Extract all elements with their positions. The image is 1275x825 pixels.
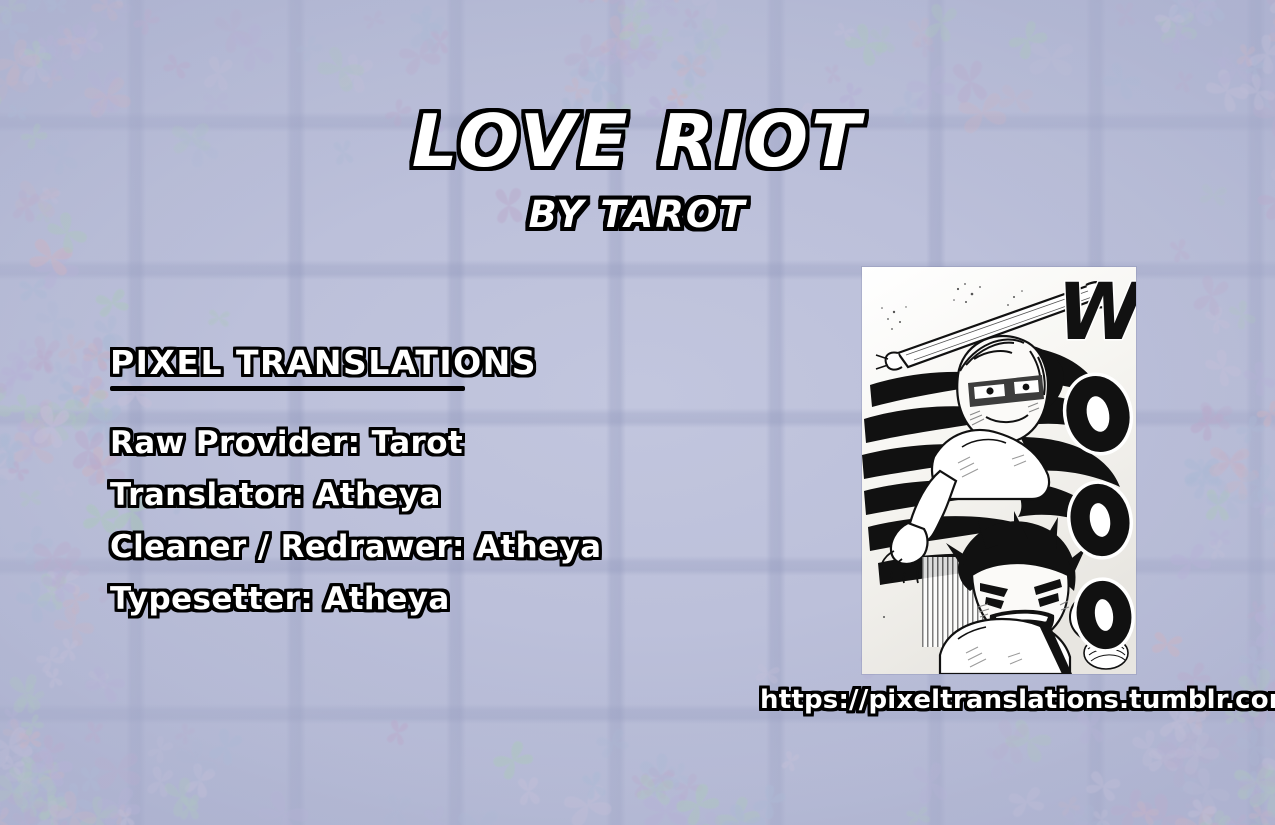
butterfly-icon	[1230, 760, 1275, 805]
butterfly-icon	[0, 33, 47, 93]
butterfly-icon	[838, 18, 893, 73]
butterfly-icon	[629, 771, 654, 800]
butterfly-icon	[160, 51, 194, 82]
page-subtitle: BY TAROT	[0, 195, 1275, 235]
butterfly-icon	[33, 760, 68, 796]
butterfly-icon	[1217, 449, 1246, 472]
butterfly-icon	[948, 57, 991, 107]
butterfly-icon	[292, 32, 327, 66]
butterfly-icon	[516, 775, 543, 808]
butterfly-icon	[0, 357, 35, 390]
butterfly-icon	[1224, 811, 1251, 825]
butterfly-icon	[566, 52, 600, 80]
butterfly-icon	[1165, 538, 1216, 585]
butterfly-icon	[170, 734, 224, 791]
butterfly-icon	[1256, 737, 1275, 798]
butterfly-icon	[987, 715, 1033, 768]
butterfly-icon	[648, 771, 677, 802]
butterfly-icon	[8, 423, 54, 468]
butterfly-icon	[1261, 0, 1275, 18]
butterfly-icon	[1218, 816, 1256, 825]
butterfly-icon	[67, 371, 113, 413]
butterfly-icon	[866, 22, 899, 59]
butterfly-icon	[0, 739, 3, 767]
butterfly-icon	[588, 0, 611, 4]
butterfly-icon	[1149, 629, 1185, 660]
butterfly-icon	[592, 33, 647, 83]
butterfly-icon	[87, 0, 127, 25]
butterfly-icon	[1151, 728, 1199, 774]
butterfly-icon	[0, 722, 38, 773]
butterfly-icon	[204, 723, 246, 769]
butterfly-icon	[1026, 39, 1076, 80]
butterfly-icon	[84, 668, 111, 691]
butterfly-icon	[45, 0, 67, 15]
butterfly-icon	[13, 680, 48, 717]
butterfly-icon	[28, 730, 70, 774]
butterfly-icon	[79, 765, 103, 794]
butterfly-icon	[179, 793, 202, 821]
butterfly-icon	[34, 348, 56, 374]
butterfly-icon	[5, 759, 42, 802]
butterfly-icon	[129, 5, 163, 39]
butterfly-icon	[1173, 0, 1224, 29]
butterfly-icon	[1253, 397, 1275, 431]
butterfly-icon	[428, 28, 450, 55]
butterfly-icon	[2, 335, 39, 373]
butterfly-icon	[1004, 783, 1047, 821]
butterfly-icon	[1168, 726, 1225, 780]
butterfly-icon	[5, 389, 45, 427]
butterfly-icon	[1127, 725, 1169, 771]
butterfly-icon	[1202, 487, 1231, 523]
butterfly-icon	[23, 332, 63, 378]
butterfly-icon	[881, 817, 932, 825]
butterfly-icon	[1170, 800, 1230, 825]
butterfly-icon	[3, 705, 23, 729]
butterfly-icon	[1133, 787, 1195, 825]
butterfly-icon	[908, 758, 952, 808]
butterfly-icon	[576, 0, 595, 5]
butterfly-icon	[1, 756, 46, 801]
butterfly-icon	[1091, 807, 1112, 825]
butterfly-icon	[33, 820, 79, 825]
butterfly-icon	[48, 601, 100, 652]
butterfly-icon	[999, 714, 1057, 769]
butterfly-icon	[1267, 20, 1275, 68]
butterfly-icon	[1155, 741, 1204, 793]
butterfly-icon	[1257, 805, 1275, 825]
butterfly-icon	[1168, 236, 1193, 264]
butterfly-icon	[1236, 768, 1268, 802]
butterfly-icon	[394, 33, 446, 81]
butterfly-icon	[1261, 399, 1275, 434]
credit-line-translator: Translator: Atheya	[110, 469, 670, 521]
butterfly-icon	[648, 25, 677, 53]
credits-heading-wrap: PIXEL TRANSLATIONS	[110, 344, 670, 382]
butterfly-icon	[921, 0, 961, 46]
butterfly-icon	[0, 449, 13, 498]
butterfly-icon	[82, 720, 105, 746]
butterfly-icon	[633, 770, 677, 808]
butterfly-icon	[1257, 479, 1275, 541]
butterfly-icon	[558, 780, 617, 825]
butterfly-icon	[25, 233, 78, 280]
butterfly-icon	[44, 666, 66, 690]
butterfly-icon	[405, 6, 450, 57]
butterfly-icon	[1244, 29, 1275, 79]
credit-line-raw-provider: Raw Provider: Tarot	[110, 417, 670, 469]
butterfly-icon	[709, 790, 767, 825]
butterfly-icon	[1232, 412, 1268, 448]
butterfly-icon	[0, 432, 28, 474]
butterfly-icon	[1197, 730, 1242, 767]
butterfly-icon	[80, 661, 130, 708]
butterfly-icon	[640, 790, 691, 825]
butterfly-icon	[10, 428, 58, 467]
butterfly-icon	[51, 779, 96, 825]
butterfly-icon	[18, 712, 47, 740]
butterfly-icon	[181, 759, 220, 802]
butterfly-icon	[1234, 42, 1257, 69]
butterfly-icon	[0, 443, 22, 497]
butterfly-icon	[252, 783, 316, 825]
butterfly-icon	[905, 15, 937, 52]
butterfly-icon	[1182, 456, 1222, 488]
butterfly-icon	[18, 789, 47, 820]
butterfly-icon	[7, 35, 60, 81]
butterfly-icon	[1252, 58, 1275, 100]
butterfly-icon	[29, 398, 81, 446]
butterfly-icon	[29, 244, 84, 295]
butterfly-icon	[17, 277, 50, 304]
butterfly-icon	[1200, 474, 1254, 525]
butterfly-icon	[13, 751, 63, 795]
butterfly-icon	[674, 13, 716, 54]
butterfly-icon	[206, 307, 232, 328]
butterfly-icon	[1159, 20, 1196, 58]
butterfly-icon	[1206, 444, 1252, 482]
butterfly-icon	[14, 42, 54, 89]
butterfly-icon	[45, 814, 70, 825]
butterfly-icon	[1166, 0, 1192, 21]
butterfly-icon	[832, 20, 858, 44]
butterfly-icon	[1267, 0, 1275, 4]
butterfly-icon	[1206, 538, 1226, 562]
butterfly-icon	[25, 741, 78, 791]
butterfly-icon	[1253, 482, 1275, 535]
butterfly-icon	[0, 364, 13, 411]
butterfly-icon	[1247, 814, 1273, 825]
butterfly-icon	[361, 8, 388, 32]
butterfly-icon	[1176, 761, 1236, 822]
butterfly-icon	[3, 816, 43, 825]
butterfly-icon	[27, 403, 56, 429]
butterfly-icon	[1178, 772, 1199, 796]
butterfly-icon	[37, 541, 94, 594]
butterfly-icon	[0, 796, 11, 825]
butterfly-icon	[90, 749, 144, 794]
butterfly-icon	[160, 772, 204, 820]
butterfly-icon	[32, 795, 76, 825]
butterfly-icon	[1188, 270, 1233, 320]
butterfly-icon	[50, 22, 90, 57]
butterfly-icon	[30, 812, 85, 825]
butterfly-icon	[1184, 795, 1220, 825]
butterfly-icon	[1195, 398, 1236, 433]
butterfly-icon	[579, 768, 609, 802]
butterfly-icon	[7, 519, 58, 569]
butterfly-icon	[5, 759, 63, 816]
butterfly-icon	[1201, 344, 1247, 391]
credits-block: PIXEL TRANSLATIONS Raw Provider: Tarot T…	[110, 344, 670, 625]
butterfly-icon	[614, 11, 657, 55]
butterfly-icon	[310, 41, 370, 99]
butterfly-icon	[50, 473, 79, 499]
butterfly-icon	[37, 563, 80, 608]
butterfly-icon	[689, 14, 734, 64]
butterfly-icon	[669, 769, 706, 804]
butterfly-icon	[44, 39, 80, 83]
butterfly-icon	[37, 748, 60, 774]
butterfly-icon	[1056, 794, 1083, 819]
butterfly-icon	[1097, 58, 1147, 106]
butterfly-icon	[62, 352, 110, 404]
butterfly-icon	[172, 720, 198, 747]
butterfly-icon	[1264, 12, 1275, 53]
butterfly-icon	[614, 0, 653, 29]
butterfly-icon	[1180, 459, 1227, 504]
butterfly-icon	[1246, 772, 1275, 797]
butterfly-icon	[558, 28, 611, 83]
butterfly-icon	[1059, 799, 1097, 825]
butterfly-icon	[28, 401, 73, 452]
svg-text:W: W	[1057, 268, 1136, 358]
butterfly-icon	[96, 0, 131, 1]
butterfly-icon	[0, 815, 10, 825]
butterfly-icon	[32, 642, 68, 676]
butterfly-icon	[1271, 528, 1275, 559]
page-title: LOVE RIOT	[0, 103, 1275, 179]
butterfly-icon	[54, 25, 91, 60]
butterfly-icon	[0, 714, 36, 750]
butterfly-icon	[30, 295, 82, 347]
butterfly-icon	[1175, 720, 1207, 759]
butterfly-icon	[904, 804, 933, 825]
butterfly-icon	[610, 20, 668, 76]
butterfly-icon	[1105, 784, 1158, 825]
butterfly-icon	[1239, 357, 1275, 401]
butterfly-icon	[11, 395, 70, 453]
butterfly-icon	[1243, 55, 1268, 81]
butterfly-icon	[1271, 731, 1275, 765]
butterfly-icon	[487, 735, 538, 785]
butterfly-icon	[682, 28, 725, 77]
butterfly-icon	[716, 798, 771, 825]
butterfly-icon	[46, 398, 79, 425]
butterfly-icon	[1209, 44, 1239, 74]
butterfly-icon	[1172, 0, 1219, 29]
butterfly-icon	[1186, 456, 1219, 491]
butterfly-icon	[605, 0, 641, 16]
butterfly-icon	[645, 764, 678, 792]
butterfly-icon	[1198, 818, 1244, 825]
butterfly-icon	[617, 31, 661, 69]
butterfly-icon	[1266, 617, 1275, 650]
butterfly-icon	[1173, 70, 1195, 96]
butterfly-icon	[1232, 756, 1275, 808]
credits-heading: PIXEL TRANSLATIONS	[110, 344, 537, 382]
butterfly-icon	[406, 1, 448, 46]
butterfly-icon	[1113, 1, 1137, 30]
butterfly-icon	[107, 801, 134, 825]
butterfly-icon	[980, 739, 1019, 784]
butterfly-icon	[685, 0, 742, 25]
butterfly-icon	[691, 820, 728, 825]
butterfly-icon	[143, 763, 176, 800]
butterfly-icon	[1003, 16, 1053, 65]
butterfly-icon	[46, 359, 74, 390]
butterfly-icon	[420, 803, 452, 825]
credits-page: LOVE RIOT BY TAROT PIXEL TRANSLATIONS Ra…	[0, 0, 1275, 825]
butterfly-icon	[1268, 739, 1275, 797]
butterfly-icon	[20, 0, 61, 15]
butterfly-icon	[1251, 609, 1275, 650]
butterfly-icon	[1246, 801, 1275, 825]
butterfly-icon	[1245, 598, 1269, 624]
butterfly-icon	[779, 749, 802, 774]
butterfly-icon	[1196, 811, 1239, 825]
butterfly-icon	[36, 33, 61, 62]
butterfly-icon	[144, 733, 177, 768]
butterfly-icon	[823, 62, 843, 85]
butterfly-icon	[0, 428, 19, 471]
butterfly-icon	[644, 0, 680, 20]
butterfly-icon	[1152, 725, 1210, 777]
butterfly-icon	[1198, 807, 1234, 825]
butterfly-icon	[335, 49, 378, 97]
butterfly-icon	[1243, 761, 1275, 824]
butterfly-icon	[26, 781, 72, 825]
butterfly-icon	[1151, 1, 1189, 37]
butterfly-icon	[670, 778, 725, 825]
butterfly-icon	[1218, 457, 1263, 505]
butterfly-icon	[68, 18, 105, 60]
butterfly-icon	[0, 771, 36, 814]
butterfly-icon	[1174, 4, 1192, 26]
butterfly-icon	[634, 748, 685, 803]
butterfly-icon	[21, 37, 57, 73]
credit-line-cleaner-redrawer: Cleaner / Redrawer: Atheya	[110, 521, 670, 573]
butterfly-icon	[18, 488, 43, 509]
butterfly-icon	[102, 0, 132, 10]
butterfly-icon	[0, 382, 16, 430]
butterfly-icon	[1271, 813, 1275, 825]
butterfly-icon	[97, 0, 136, 28]
butterfly-icon	[30, 538, 75, 575]
butterfly-icon	[11, 745, 35, 766]
butterfly-icon	[692, 807, 749, 825]
butterfly-icon	[1185, 401, 1228, 446]
butterfly-icon	[0, 805, 13, 825]
butterfly-icon	[0, 4, 34, 50]
butterfly-icon	[200, 52, 236, 93]
butterfly-icon	[6, 671, 45, 717]
butterfly-icon	[1234, 641, 1275, 682]
butterfly-icon	[0, 0, 31, 30]
butterfly-icon	[630, 0, 649, 8]
butterfly-icon	[116, 805, 137, 825]
manga-panel-image: W	[862, 267, 1136, 674]
butterfly-icon	[55, 330, 90, 368]
butterfly-icon	[666, 760, 693, 790]
butterfly-icon	[25, 735, 50, 761]
butterfly-icon	[0, 752, 28, 777]
butterfly-icon	[600, 38, 625, 64]
butterfly-icon	[1208, 528, 1232, 548]
butterfly-icon	[34, 790, 71, 825]
butterfly-icon	[667, 0, 690, 6]
butterfly-icon	[1, 776, 55, 825]
butterfly-icon	[1189, 0, 1228, 27]
butterfly-icon	[1231, 725, 1275, 772]
butterfly-icon	[10, 576, 62, 629]
butterfly-icon	[455, 807, 503, 825]
butterfly-icon	[1262, 0, 1275, 10]
butterfly-icon	[17, 729, 43, 751]
butterfly-icon	[380, 791, 414, 825]
credits-heading-underline	[110, 386, 465, 391]
butterfly-icon	[1250, 490, 1275, 518]
butterfly-icon	[384, 717, 411, 748]
butterfly-icon	[592, 724, 633, 761]
butterfly-icon	[226, 18, 281, 77]
butterfly-icon	[1068, 799, 1113, 825]
site-url[interactable]: https://pixeltranslations.tumblr.com	[760, 684, 1230, 716]
butterfly-icon	[1147, 816, 1187, 825]
butterfly-icon	[91, 284, 131, 320]
butterfly-icon	[13, 392, 71, 450]
butterfly-icon	[1128, 797, 1162, 825]
butterfly-icon	[1225, 296, 1260, 333]
butterfly-icon	[57, 636, 80, 663]
butterfly-icon	[209, 3, 259, 58]
butterfly-icon	[595, 11, 644, 65]
butterfly-icon	[74, 791, 124, 825]
butterfly-icon	[92, 782, 146, 825]
butterfly-icon	[1082, 767, 1124, 805]
butterfly-icon	[754, 662, 783, 687]
butterfly-icon	[675, 52, 708, 79]
butterfly-icon	[666, 46, 712, 93]
butterfly-icon	[40, 66, 66, 91]
butterfly-icon	[44, 567, 82, 598]
butterfly-icon	[68, 427, 106, 473]
butterfly-icon	[1215, 52, 1258, 87]
butterfly-icon	[1182, 794, 1208, 819]
butterfly-icon	[681, 6, 701, 30]
butterfly-icon	[7, 809, 42, 825]
butterfly-icon	[1237, 460, 1275, 513]
butterfly-icon	[5, 458, 32, 484]
butterfly-icon	[748, 780, 790, 824]
butterfly-icon	[59, 582, 94, 618]
butterfly-icon	[33, 570, 70, 613]
butterfly-icon	[43, 785, 103, 825]
butterfly-icon	[911, 33, 938, 61]
butterfly-icon	[1202, 302, 1234, 336]
credit-line-typesetter: Typesetter: Atheya	[110, 573, 670, 625]
